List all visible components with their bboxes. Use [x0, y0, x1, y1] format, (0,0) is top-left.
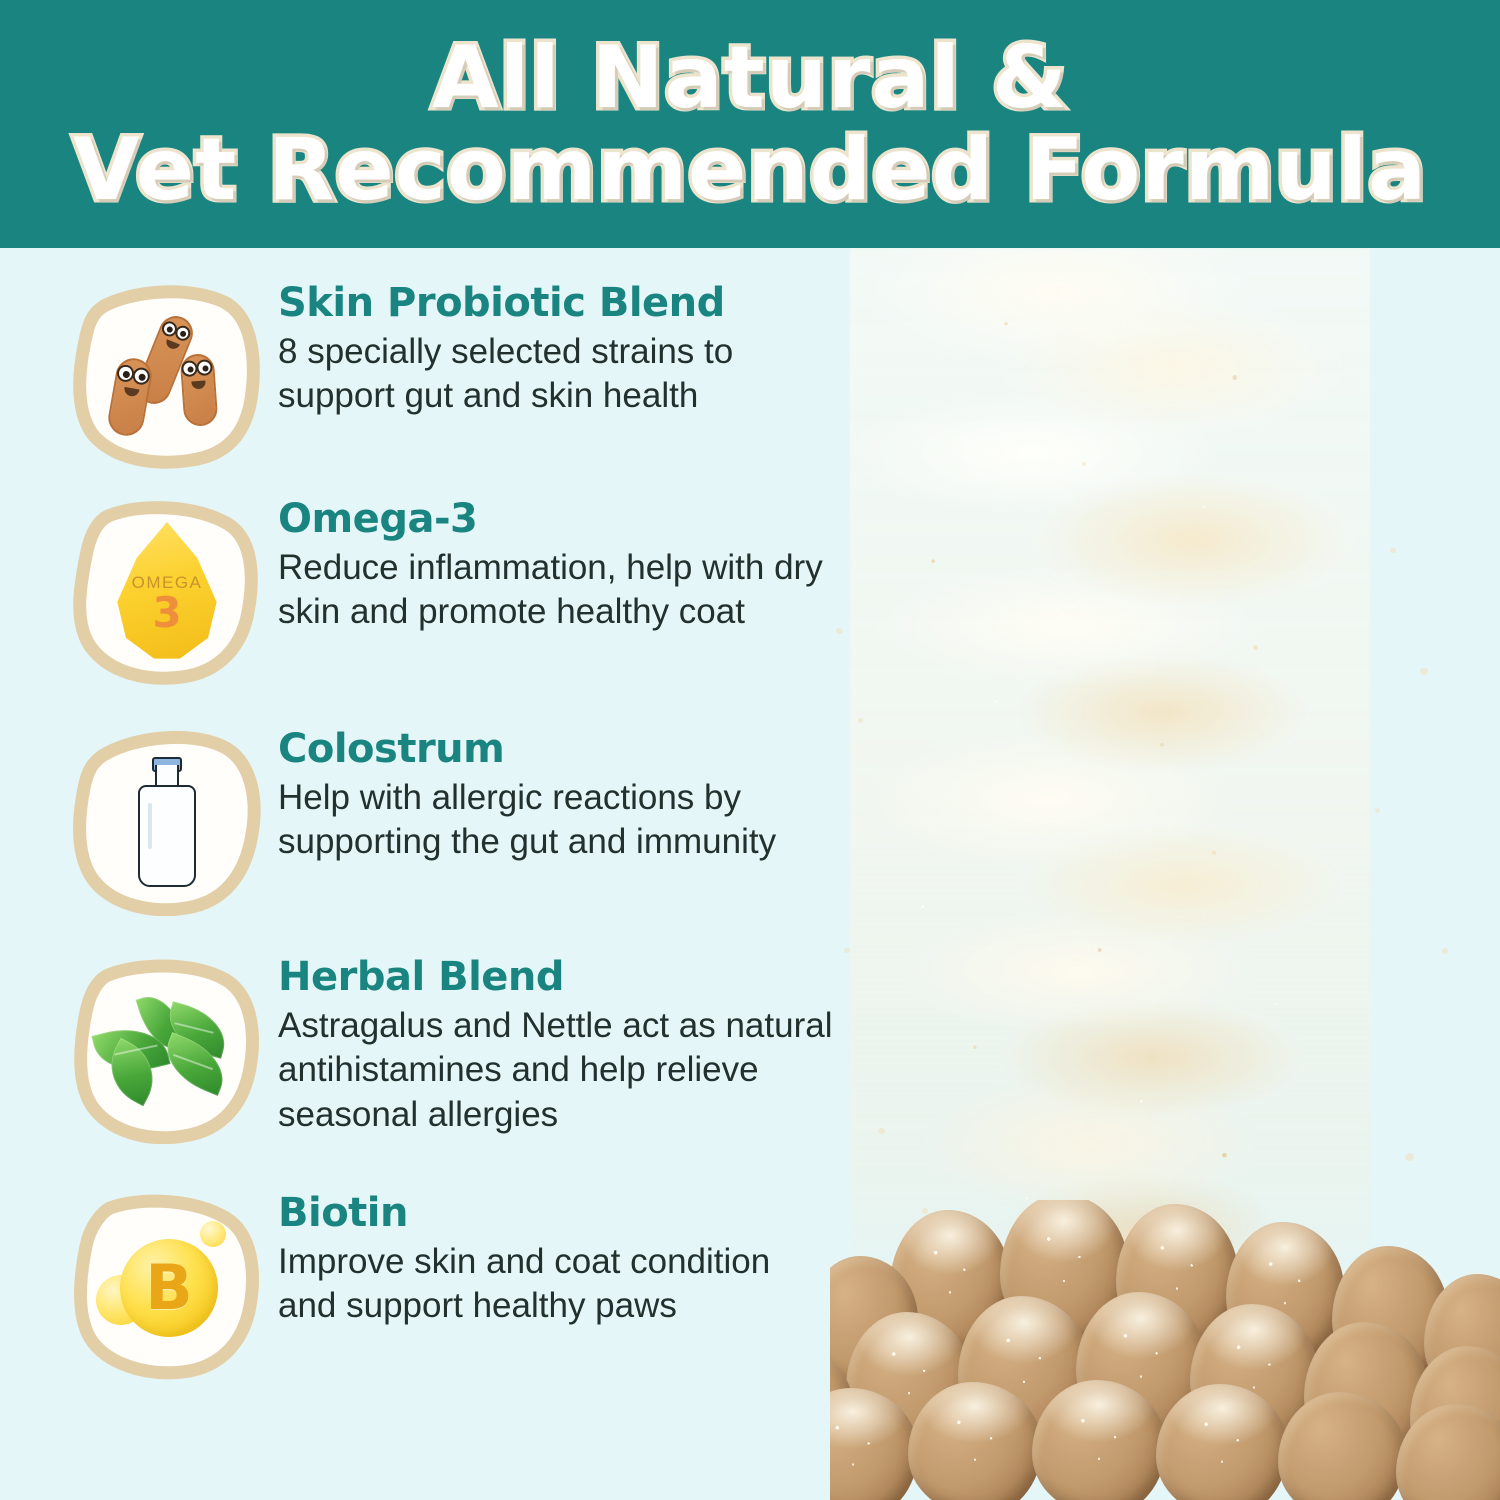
feature-list: Skin Probiotic Blend 8 specially selecte… [0, 248, 850, 1500]
product-photo [830, 248, 1500, 1500]
feature-description: Improve skin and coat condition and supp… [278, 1240, 832, 1329]
feature-item-herbal-blend: Herbal Blend Astragalus and Nettle act a… [0, 950, 850, 1144]
feature-title: Colostrum [278, 728, 832, 770]
icon-card-probiotic [72, 280, 262, 470]
treat-pile [830, 1200, 1500, 1500]
drop-number-label: 3 [152, 593, 181, 633]
infographic-page: All Natural & Vet Recommended Formula [0, 0, 1500, 1500]
bubble-large: B [120, 1239, 218, 1337]
powder-speck [878, 1128, 885, 1134]
feature-item-skin-probiotic-blend: Skin Probiotic Blend 8 specially selecte… [0, 276, 850, 470]
powder-speck [1390, 548, 1396, 553]
biotin-vitamin-b-icon: B [72, 1190, 262, 1380]
probiotic-bacteria-icon [72, 280, 262, 470]
feature-description: Astragalus and Nettle act as natural ant… [278, 1004, 850, 1137]
header-banner: All Natural & Vet Recommended Formula [0, 0, 1500, 248]
feature-title: Skin Probiotic Blend [278, 282, 832, 324]
feature-title: Herbal Blend [278, 956, 850, 998]
bubble-tiny [200, 1221, 226, 1247]
powder-speck [1442, 948, 1448, 954]
powder-speck [858, 718, 863, 723]
feature-description: 8 specially selected strains to support … [278, 330, 832, 419]
milk-bottle-icon [72, 726, 262, 916]
powder-speck [1420, 668, 1428, 675]
feature-description: Help with allergic reactions by supporti… [278, 776, 832, 865]
banner-headline-line-2: Vet Recommended Formula [73, 127, 1427, 213]
powder-grain-texture [850, 248, 1370, 1328]
feature-title: Biotin [278, 1192, 832, 1234]
powder-speck [1375, 808, 1380, 813]
bacteria-character [106, 355, 155, 438]
nettle-leaves-icon [72, 954, 262, 1144]
leaf-cluster [92, 991, 242, 1107]
icon-card-biotin: B [72, 1190, 262, 1380]
feature-item-omega-3: OMEGA 3 Omega-3 Reduce inflammation, hel… [0, 492, 850, 686]
feature-title: Omega-3 [278, 498, 832, 540]
omega-3-oil-drop-icon: OMEGA 3 [72, 496, 262, 686]
feature-item-biotin: B Biotin Improve skin and coat condition… [0, 1186, 850, 1380]
icon-card-colostrum [72, 726, 262, 916]
vitamin-bubbles: B [96, 1219, 238, 1351]
bacteria-character [180, 353, 219, 427]
bottle-highlight [148, 803, 152, 849]
bubble-letter: B [145, 1257, 192, 1319]
icon-card-herbal-blend [72, 954, 262, 1144]
feature-description: Reduce inflammation, help with dry skin … [278, 546, 832, 635]
banner-headline-line-1: All Natural & [432, 35, 1068, 121]
feature-item-colostrum: Colostrum Help with allergic reactions b… [0, 722, 850, 916]
bottle-shape [130, 755, 204, 887]
powder-speck [1405, 1153, 1414, 1161]
icon-card-omega-3: OMEGA 3 [72, 496, 262, 686]
bottle-body [138, 785, 196, 887]
oil-drop-shape: OMEGA 3 [113, 522, 221, 660]
